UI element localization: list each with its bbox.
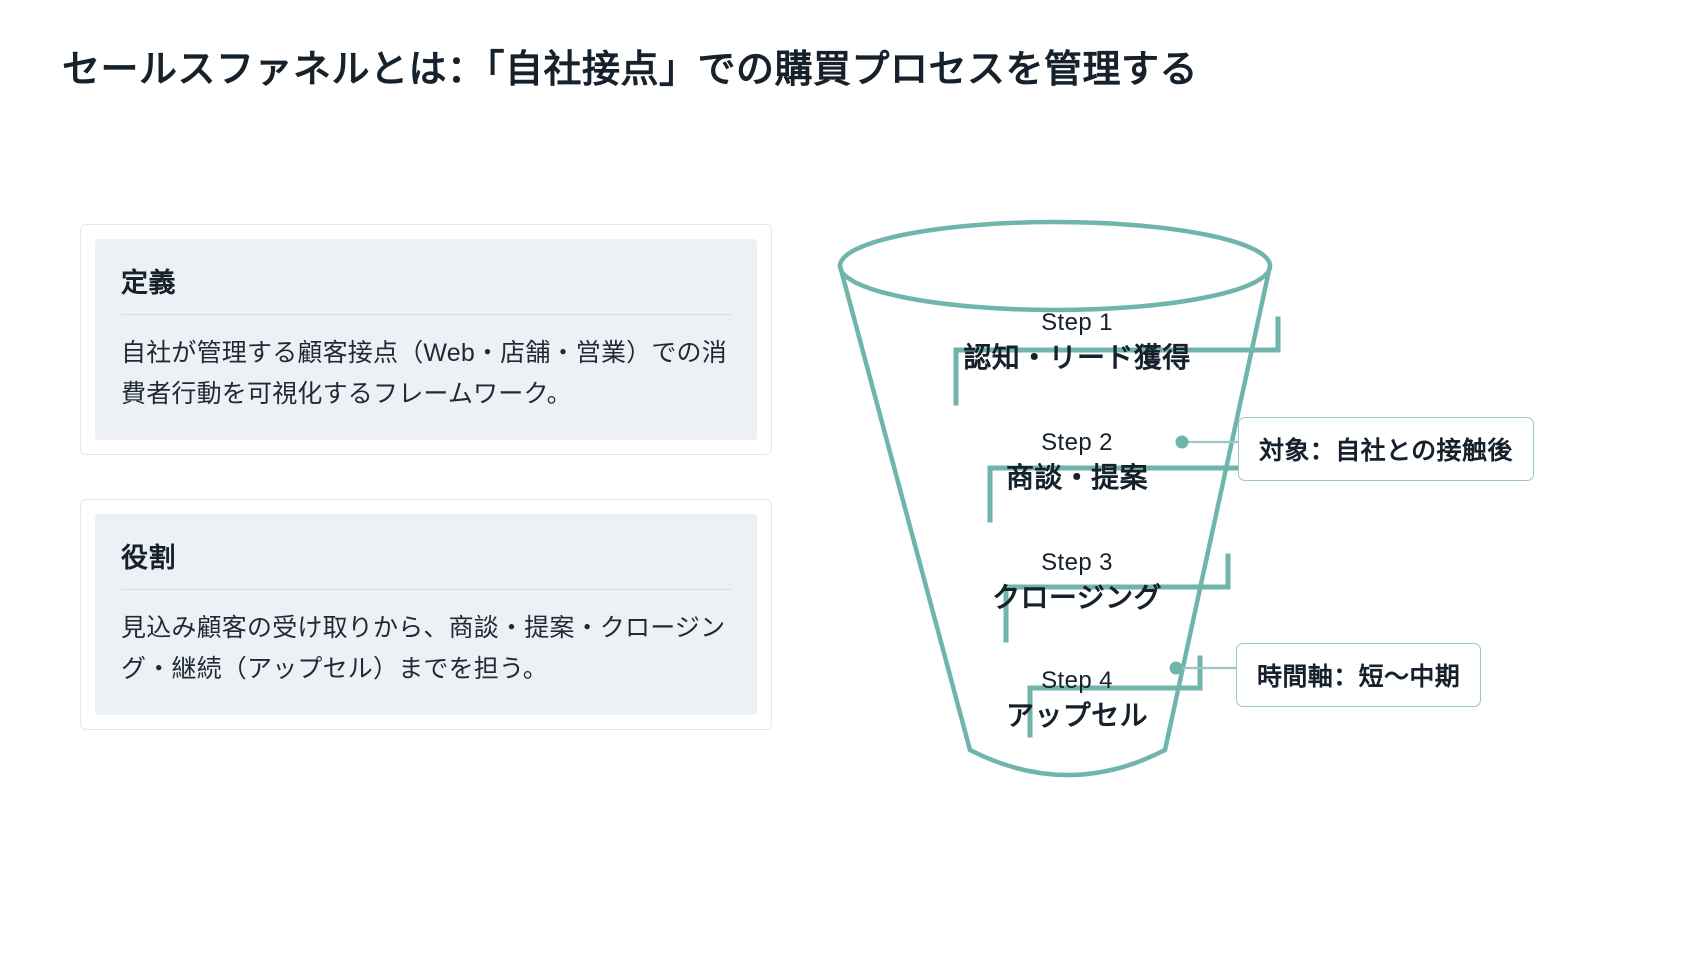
funnel-step-2: Step 2 商談・提案 bbox=[912, 428, 1242, 496]
card-definition-panel: 定義 自社が管理する顧客接点（Web・店舗・営業）での消費者行動を可視化するフレ… bbox=[95, 239, 757, 440]
funnel-step-4-name: アップセル bbox=[912, 698, 1242, 734]
callout-target-audience: 対象：自社との接触後 bbox=[1238, 417, 1534, 481]
funnel-step-1-number: Step 1 bbox=[912, 308, 1242, 338]
page-title: セールスファネルとは：「自社接点」での購買プロセスを管理する bbox=[62, 38, 1198, 93]
card-definition-heading: 定義 bbox=[121, 261, 731, 315]
funnel-step-3-name: クロージング bbox=[912, 580, 1242, 616]
funnel-step-2-number: Step 2 bbox=[912, 428, 1242, 458]
funnel-step-1-name: 認知・リード獲得 bbox=[912, 340, 1242, 376]
card-definition: 定義 自社が管理する顧客接点（Web・店舗・営業）での消費者行動を可視化するフレ… bbox=[80, 224, 772, 455]
card-role-heading: 役割 bbox=[121, 536, 731, 590]
funnel-step-4-number: Step 4 bbox=[912, 666, 1242, 696]
callout-timeframe: 時間軸：短〜中期 bbox=[1236, 643, 1481, 707]
card-role-body: 見込み顧客の受け取りから、商談・提案・クロージング・継続（アップセル）までを担う… bbox=[121, 608, 731, 689]
funnel-step-3: Step 3 クロージング bbox=[912, 548, 1242, 616]
info-card-list: 定義 自社が管理する顧客接点（Web・店舗・営業）での消費者行動を可視化するフレ… bbox=[80, 224, 772, 774]
card-role: 役割 見込み顧客の受け取りから、商談・提案・クロージング・継続（アップセル）まで… bbox=[80, 499, 772, 730]
funnel-step-3-number: Step 3 bbox=[912, 548, 1242, 578]
card-definition-body: 自社が管理する顧客接点（Web・店舗・営業）での消費者行動を可視化するフレームワ… bbox=[121, 333, 731, 414]
card-role-panel: 役割 見込み顧客の受け取りから、商談・提案・クロージング・継続（アップセル）まで… bbox=[95, 514, 757, 715]
funnel-step-2-name: 商談・提案 bbox=[912, 460, 1242, 496]
funnel-step-4: Step 4 アップセル bbox=[912, 666, 1242, 734]
funnel-bottom-curve bbox=[970, 750, 1165, 775]
funnel-step-1: Step 1 認知・リード獲得 bbox=[912, 308, 1242, 376]
sales-funnel-diagram: Step 1 認知・リード獲得 Step 2 商談・提案 Step 3 クロージ… bbox=[810, 190, 1690, 830]
funnel-mouth-ellipse bbox=[840, 222, 1270, 310]
